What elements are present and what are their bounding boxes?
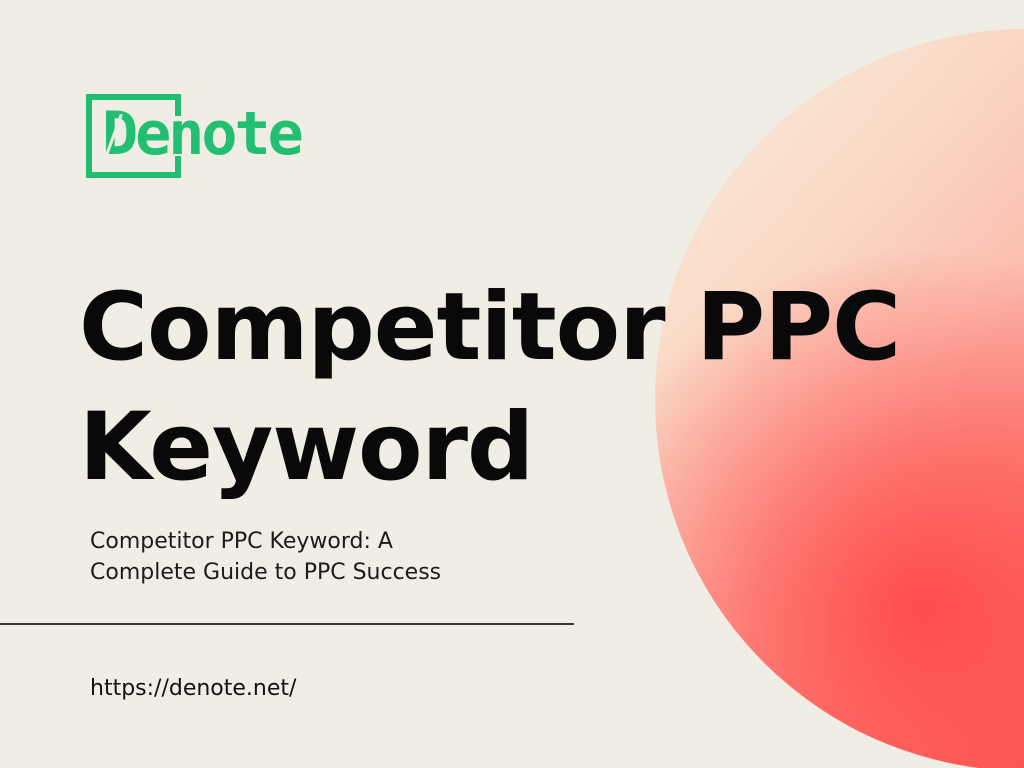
horizontal-divider bbox=[0, 623, 574, 625]
brand-wordmark: Denote bbox=[102, 104, 301, 164]
slide-canvas: Denote Competitor PPC Keyword Competitor… bbox=[0, 0, 1024, 768]
frame-left-bar bbox=[86, 94, 92, 178]
page-subtitle: Competitor PPC Keyword: A Complete Guide… bbox=[90, 526, 550, 588]
page-title: Competitor PPC Keyword bbox=[79, 268, 909, 508]
site-url[interactable]: https://denote.net/ bbox=[90, 674, 296, 704]
frame-bottom-bar bbox=[86, 172, 181, 178]
brand-logo[interactable]: Denote bbox=[86, 92, 316, 184]
